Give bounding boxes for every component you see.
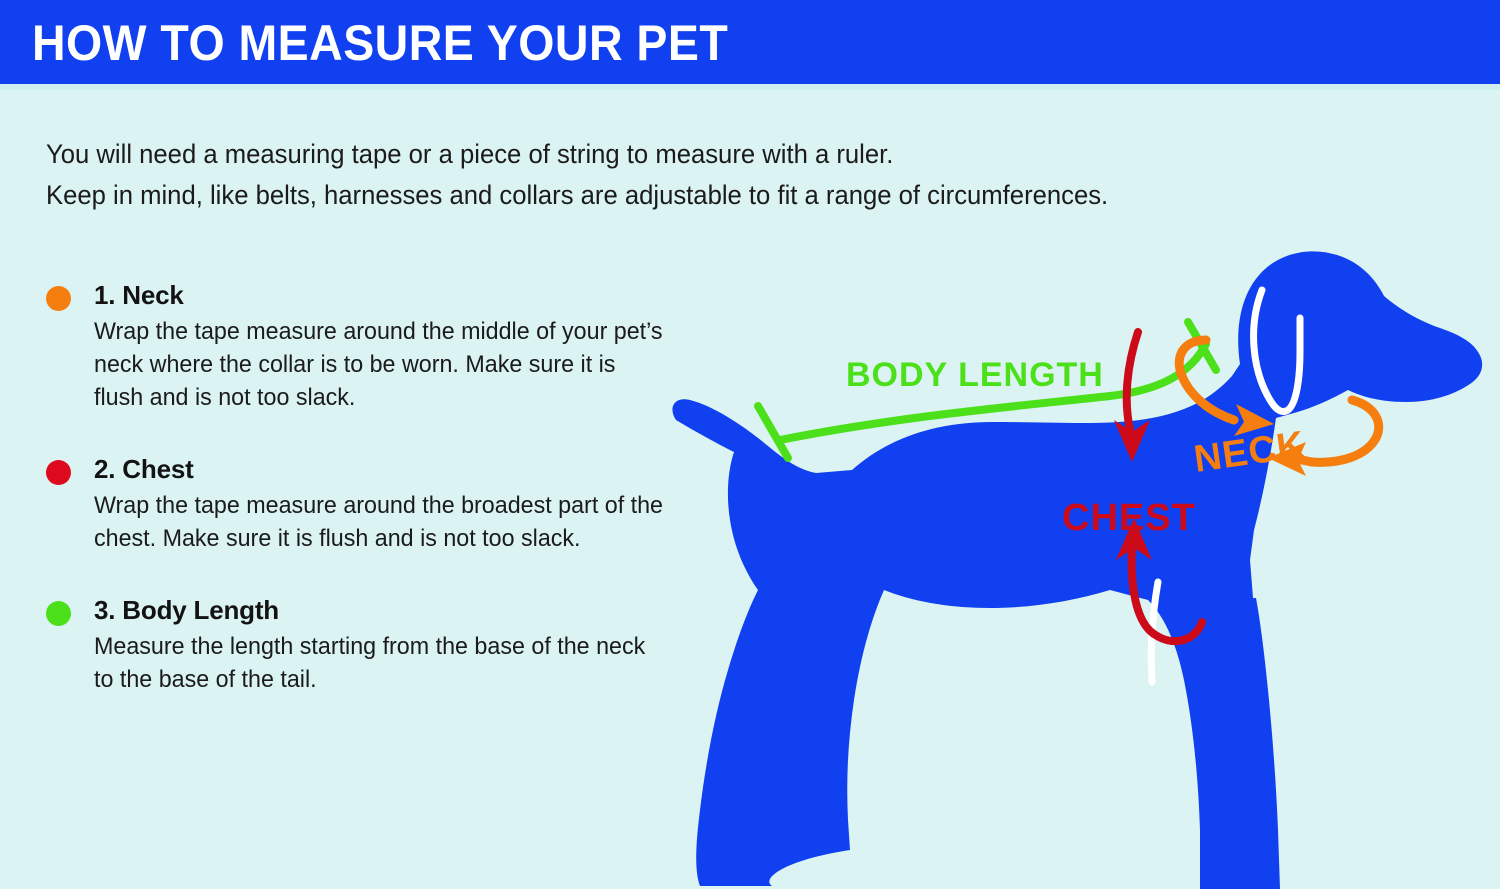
step-heading-chest: 2. Chest bbox=[94, 452, 684, 486]
bullet-chest-icon bbox=[46, 460, 71, 485]
step-item-chest: 2. Chest Wrap the tape measure around th… bbox=[44, 452, 684, 555]
step-body-neck: Wrap the tape measure around the middle … bbox=[94, 315, 666, 414]
chest-label: CHEST bbox=[1062, 497, 1196, 539]
infographic-page: HOW TO MEASURE YOUR PET You will need a … bbox=[0, 0, 1500, 889]
step-heading-neck: 1. Neck bbox=[94, 278, 684, 312]
intro-line-2: Keep in mind, like belts, harnesses and … bbox=[46, 175, 1310, 216]
bullet-body-length-icon bbox=[46, 601, 71, 626]
body-length-label: BODY LENGTH bbox=[846, 356, 1104, 394]
header-underline bbox=[0, 84, 1500, 90]
step-item-neck: 1. Neck Wrap the tape measure around the… bbox=[44, 278, 684, 414]
page-title: HOW TO MEASURE YOUR PET bbox=[32, 17, 728, 69]
step-heading-body-length: 3. Body Length bbox=[94, 593, 684, 627]
step-body-body-length: Measure the length starting from the bas… bbox=[94, 630, 666, 696]
bullet-neck-icon bbox=[46, 286, 71, 311]
steps-list: 1. Neck Wrap the tape measure around the… bbox=[44, 278, 684, 734]
intro-line-1: You will need a measuring tape or a piec… bbox=[46, 134, 1310, 175]
dog-measurement-diagram: BODY LENGTH NECK CHEST bbox=[640, 230, 1500, 889]
dog-silhouette-icon bbox=[672, 251, 1482, 889]
step-item-body-length: 3. Body Length Measure the length starti… bbox=[44, 593, 684, 696]
step-body-chest: Wrap the tape measure around the broades… bbox=[94, 489, 666, 555]
intro-paragraph: You will need a measuring tape or a piec… bbox=[46, 134, 1376, 216]
